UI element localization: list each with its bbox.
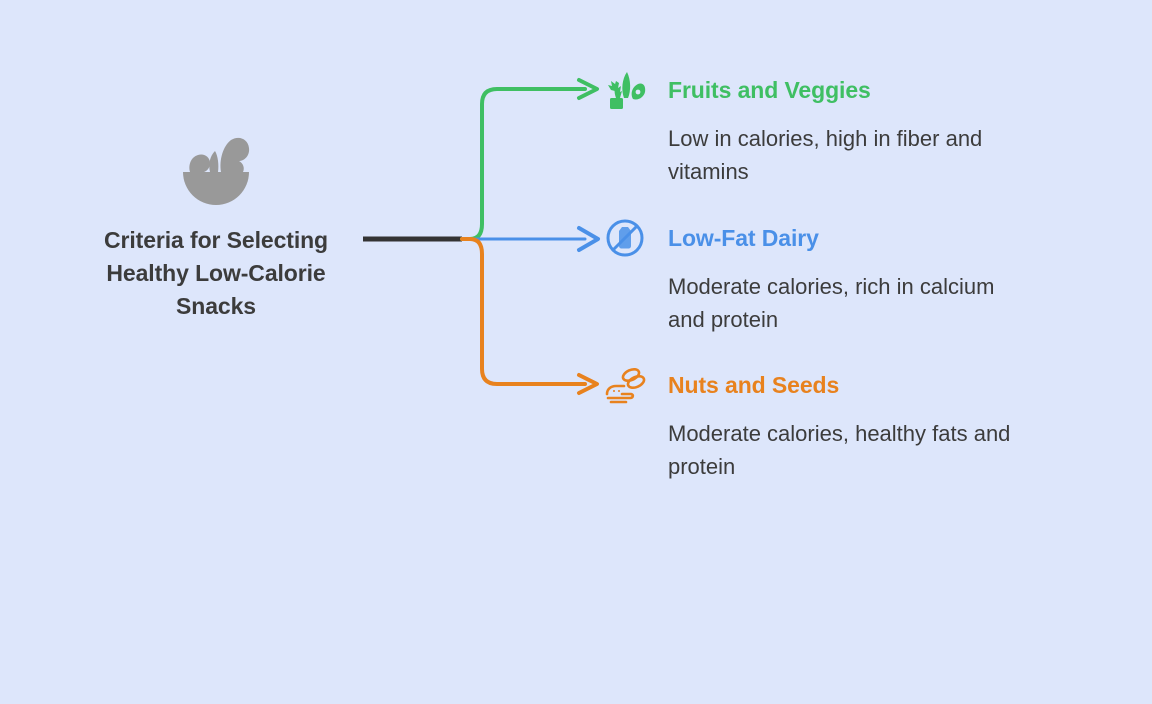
mindmap-canvas: Criteria for Selecting Healthy Low-Calor… — [0, 0, 1152, 704]
branch-header: Nuts and Seeds — [602, 361, 1022, 409]
branch-header: Low-Fat Dairy — [602, 214, 1022, 262]
branch-low-fat-dairy[interactable]: Low-Fat Dairy Moderate calories, rich in… — [602, 214, 1022, 336]
branch-title: Low-Fat Dairy — [668, 225, 819, 252]
root-title-line-1: Criteria for Selecting — [86, 224, 346, 257]
branch-description: Moderate calories, rich in calcium and p… — [668, 270, 1034, 336]
root-node[interactable]: Criteria for Selecting Healthy Low-Calor… — [80, 132, 352, 323]
branch-description: Low in calories, high in fiber and vitam… — [668, 122, 1034, 188]
hand-with-nuts-icon — [602, 362, 648, 408]
branch-nuts-and-seeds[interactable]: Nuts and Seeds Moderate calories, health… — [602, 361, 1022, 483]
connector-nuts-and-seeds — [462, 239, 585, 384]
root-title-line-2: Healthy Low-Calorie — [86, 257, 346, 290]
branch-fruits-and-veggies[interactable]: Fruits and Veggies Low in calories, high… — [602, 66, 1022, 188]
salad-bowl-icon — [177, 132, 255, 208]
plant-sprout-icon — [602, 67, 648, 113]
branch-description: Moderate calories, healthy fats and prot… — [668, 417, 1034, 483]
root-title-line-3: Snacks — [86, 290, 346, 323]
branch-title: Fruits and Veggies — [668, 77, 871, 104]
connector-fruits-and-veggies — [462, 89, 585, 239]
branch-header: Fruits and Veggies — [602, 66, 1022, 114]
root-title: Criteria for Selecting Healthy Low-Calor… — [86, 224, 346, 323]
branch-title: Nuts and Seeds — [668, 372, 839, 399]
no-dairy-icon — [602, 215, 648, 261]
